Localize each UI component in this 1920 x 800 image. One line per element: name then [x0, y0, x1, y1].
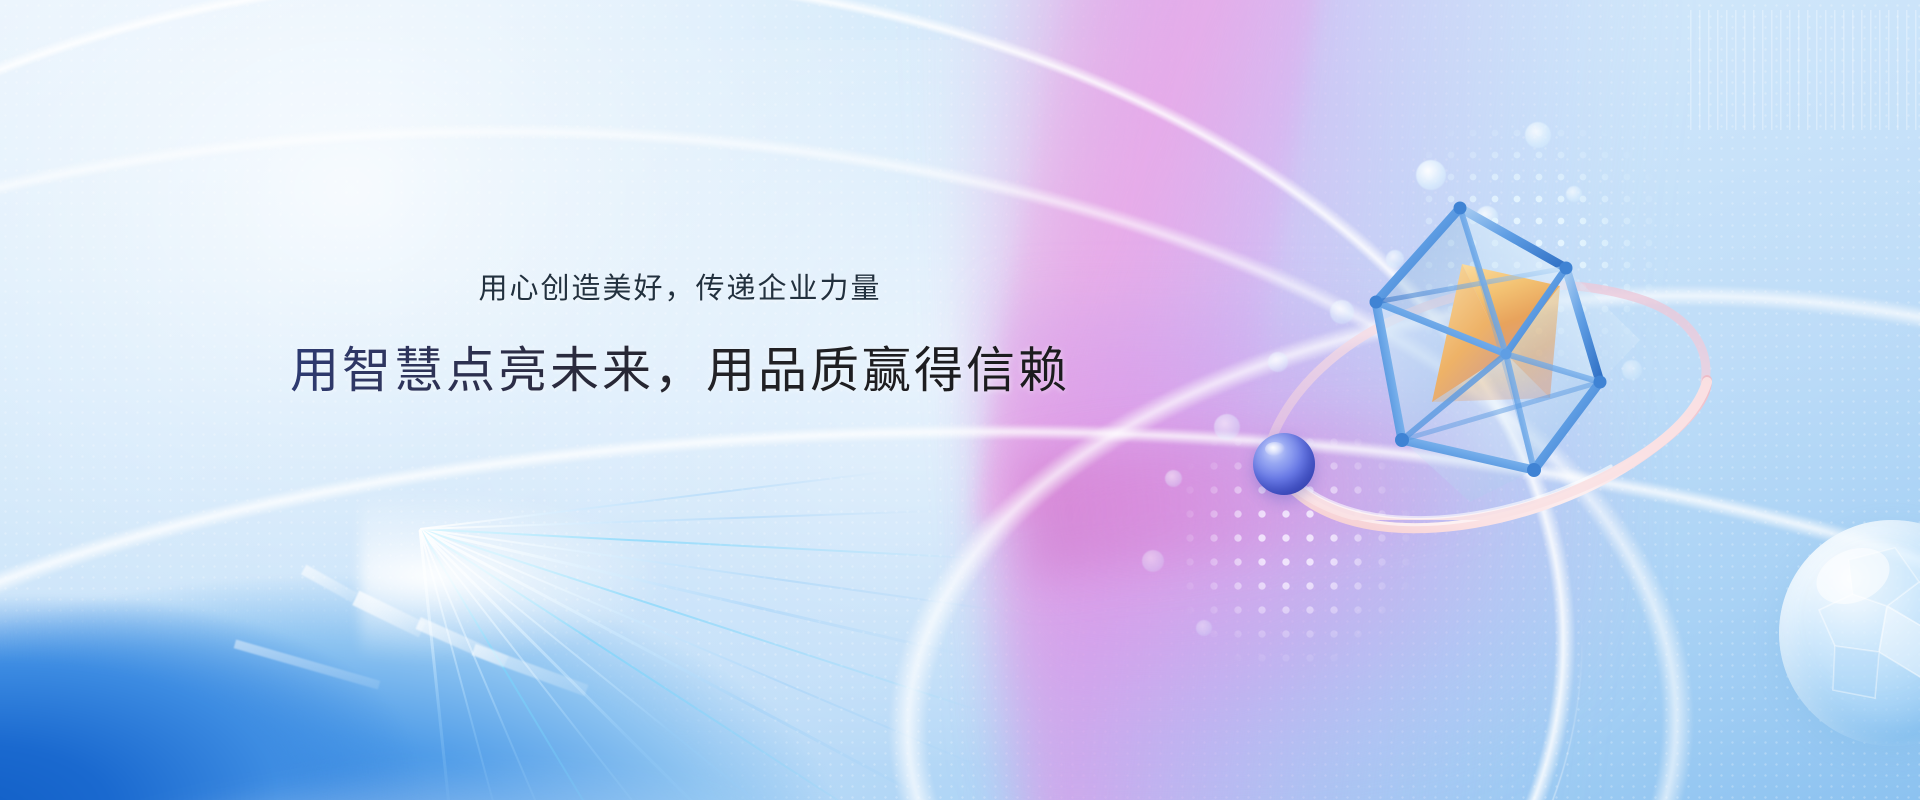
- light-streak-fan: [80, 470, 1180, 800]
- halftone-dot-grid-lower: [1178, 430, 1428, 680]
- bokeh-circle: [1196, 620, 1212, 636]
- bokeh-circle: [1525, 122, 1551, 148]
- bokeh-circle: [1622, 360, 1642, 380]
- streak-focal-burst: [360, 486, 680, 666]
- bokeh-circle: [1214, 414, 1240, 440]
- wave-shard: [472, 644, 589, 696]
- bokeh-circle: [1142, 550, 1164, 572]
- hero-banner: 用心创造美好，传递企业力量 用智慧点亮未来，用品质赢得信赖: [0, 0, 1920, 800]
- bokeh-circle: [1165, 470, 1182, 487]
- hero-headline: 用智慧点亮未来，用品质赢得信赖: [0, 343, 1360, 401]
- wave-shard: [352, 591, 426, 638]
- bokeh-circle: [1566, 186, 1582, 202]
- wave-shard: [301, 565, 357, 603]
- blue-wave-core: [0, 466, 731, 800]
- wave-shard: [234, 640, 381, 690]
- bokeh-circle: [1386, 250, 1404, 268]
- hero-subtitle: 用心创造美好，传递企业力量: [0, 272, 1360, 307]
- line-grid-top-right: [1690, 10, 1920, 130]
- bokeh-circle: [1476, 206, 1498, 228]
- bokeh-circle: [1416, 160, 1446, 190]
- sweeping-arc-lower: [0, 420, 1920, 800]
- hero-copy: 用心创造美好，传递企业力量 用智慧点亮未来，用品质赢得信赖: [0, 272, 1360, 401]
- faceted-glass-sphere: [1779, 520, 1920, 746]
- halftone-dot-grid-upper: [1418, 122, 1704, 364]
